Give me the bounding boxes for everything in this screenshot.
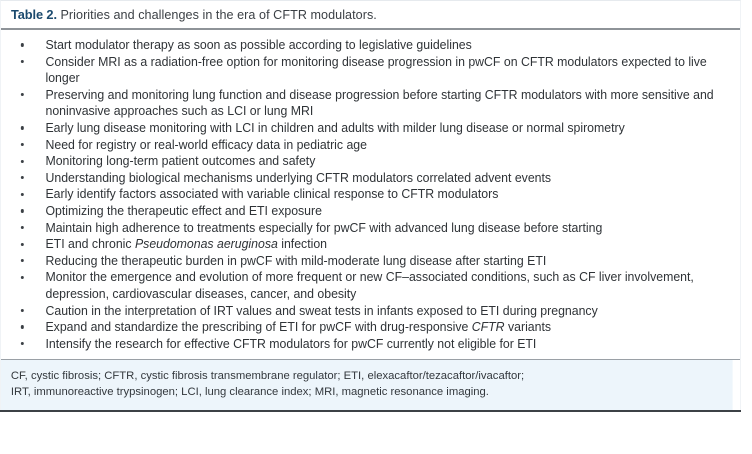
list-item: Intensify the research for effective CFT… [11,336,719,353]
bullet-icon [21,325,24,328]
list-item-text: Monitoring long-term patient outcomes an… [45,153,719,170]
list-item-text: Optimizing the therapeutic effect and ET… [45,203,719,220]
list-item: Maintain high adherence to treatments es… [11,220,719,237]
table-figure: Table 2. Priorities and challenges in th… [0,0,752,454]
list-item: ETI and chronic Pseudomonas aeruginosa i… [11,236,719,253]
list-item-text: Preserving and monitoring lung function … [45,87,719,120]
table-container: Table 2. Priorities and challenges in th… [0,0,741,410]
table-caption-text: Priorities and challenges in the era of … [60,8,376,22]
bullet-icon [21,276,24,279]
list-item: Caution in the interpretation of IRT val… [11,303,719,320]
list-item: Early identify factors associated with v… [11,186,719,203]
bullet-icon [21,176,24,179]
bullet-icon [21,193,24,196]
list-item-text: Need for registry or real-world efficacy… [45,137,719,154]
list-item: Monitoring long-term patient outcomes an… [11,153,719,170]
list-item-text: Early lung disease monitoring with LCI i… [45,120,719,137]
list-item-text: Maintain high adherence to treatments es… [45,220,719,237]
list-item: Expand and standardize the prescribing o… [11,319,719,336]
bullet-icon [21,93,24,96]
bullet-icon [21,309,24,312]
priorities-bullet-list: Start modulator therapy as soon as possi… [11,37,730,352]
footnote-line-2: IRT, immunoreactive trypsinogen; LCI, lu… [11,385,723,400]
list-item-text: Start modulator therapy as soon as possi… [45,37,719,54]
table-label: Table 2. [11,7,57,22]
table-footnote: CF, cystic fibrosis; CFTR, cystic fibros… [1,360,733,410]
list-item-text: Expand and standardize the prescribing o… [45,319,719,336]
bullet-icon [21,259,24,262]
list-item-text: Monitor the emergence and evolution of m… [45,269,719,302]
bullet-icon [21,126,24,129]
footnote-line-1: CF, cystic fibrosis; CFTR, cystic fibros… [11,369,723,384]
list-item: Preserving and monitoring lung function … [11,87,719,120]
list-item: Reducing the therapeutic burden in pwCF … [11,253,719,270]
list-item: Understanding biological mechanisms unde… [11,170,719,187]
table-bottom-rule [0,410,741,412]
list-item-text: Understanding biological mechanisms unde… [45,170,719,187]
list-item-text: Reducing the therapeutic burden in pwCF … [45,253,719,270]
list-item: Consider MRI as a radiation-free option … [11,54,719,87]
list-item: Monitor the emergence and evolution of m… [11,269,719,302]
list-item: Need for registry or real-world efficacy… [11,137,719,154]
table-caption: Table 2. Priorities and challenges in th… [1,1,740,28]
list-item-text: Early identify factors associated with v… [45,186,719,203]
table-body: Start modulator therapy as soon as possi… [1,30,740,359]
bullet-icon [21,243,24,246]
bullet-icon [21,60,24,63]
list-item-text: Consider MRI as a radiation-free option … [45,54,719,87]
list-item-text: Caution in the interpretation of IRT val… [45,303,719,320]
list-item-text: Intensify the research for effective CFT… [45,336,719,353]
list-item: Start modulator therapy as soon as possi… [11,37,719,54]
bullet-icon [21,43,24,46]
list-item-text: ETI and chronic Pseudomonas aeruginosa i… [45,236,719,253]
bullet-icon [21,342,24,345]
list-item: Optimizing the therapeutic effect and ET… [11,203,719,220]
bullet-icon [21,143,24,146]
bullet-icon [21,160,24,163]
bullet-icon [21,226,24,229]
bullet-icon [21,209,24,212]
list-item: Early lung disease monitoring with LCI i… [11,120,719,137]
